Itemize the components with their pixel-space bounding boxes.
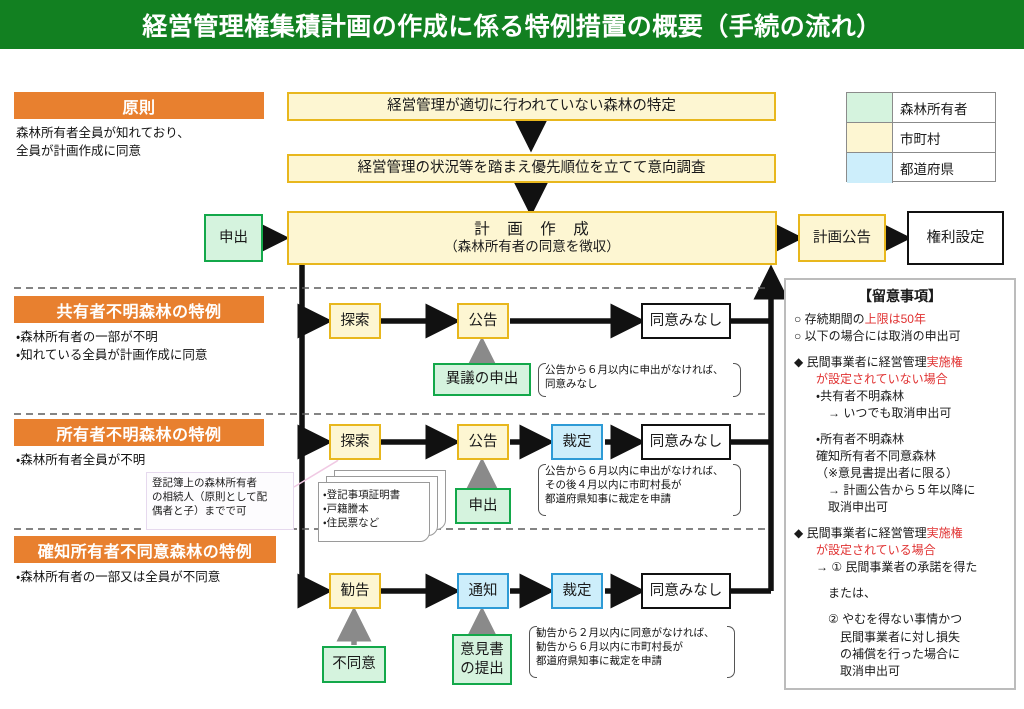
remarks-block2-head-line2: が設定されている場合: [794, 542, 1006, 559]
legend-row: 市町村: [847, 123, 995, 153]
section-header-label: 原則: [122, 94, 155, 118]
note-line: 同意みなし: [545, 377, 741, 391]
node-row2-public-notice[interactable]: 公告: [457, 424, 509, 460]
node-right-establishment[interactable]: 権利設定: [907, 211, 1004, 265]
remarks-block2-line: 民間事業者に対し損失: [794, 629, 1006, 646]
node-row3-opinion-submission[interactable]: 意見書 の提出: [452, 634, 512, 685]
node-label: 権利設定: [927, 229, 985, 247]
node-plan-announcement[interactable]: 計画公告: [798, 214, 886, 262]
note-bracket-right: [728, 626, 735, 678]
note-bracket-right: [734, 363, 741, 397]
node-row2-search[interactable]: 探索: [329, 424, 381, 460]
node-label: 探索: [341, 433, 370, 451]
section-body-kakuchi-fudoui: ・森林所有者の一部又は全員が不同意: [16, 568, 286, 586]
node-row2-deemed-consent[interactable]: 同意みなし: [641, 424, 731, 460]
spacer: [794, 345, 1006, 354]
node-row3-deemed-consent[interactable]: 同意みなし: [641, 573, 731, 609]
remarks-bullet-duration: ○ 存続期間の上限は50年: [794, 311, 1006, 328]
document-stack: ・登記事項証明書 ・戸籍謄本 ・住民票など: [318, 470, 446, 542]
section-header-label: 確知所有者不同意森林の特例: [38, 538, 253, 562]
legend-row: 都道府県: [847, 153, 995, 183]
node-moushide-main[interactable]: 申出: [204, 214, 263, 262]
callout-line: 偶者と子）までで可: [152, 505, 289, 519]
node-label: 計画公告: [813, 229, 871, 247]
remarks-text: ○ 存続期間の: [794, 312, 865, 326]
remarks-panel: 【留意事項】 ○ 存続期間の上限は50年 ○ 以下の場合には取消の申出可 ◆ 民…: [784, 278, 1016, 690]
node-row1-objection[interactable]: 異議の申出: [433, 363, 531, 396]
note-line: 都道府県知事に裁定を申請: [536, 654, 735, 668]
node-label: 不同意: [332, 655, 376, 673]
spacer: [794, 602, 1006, 611]
node-row1-search[interactable]: 探索: [329, 303, 381, 339]
node-label: 公告: [469, 312, 498, 330]
section-header-label: 共有者不明森林の特例: [56, 298, 221, 322]
section-body-line: ・森林所有者の一部が不明: [16, 328, 278, 346]
node-label-line1: 意見書: [460, 641, 504, 659]
section-body-shoyuusha-fumei: ・森林所有者全員が不明: [16, 451, 278, 469]
remarks-text: ◆ 民間事業者に経営管理: [794, 355, 927, 369]
note-line: 公告から６月以内に申出がなければ、: [545, 464, 741, 478]
section-body-line: ・森林所有者全員が不明: [16, 451, 278, 469]
section-body-kyouyuusha-fumei: ・森林所有者の一部が不明 ・知れている全員が計画作成に同意: [16, 328, 278, 364]
callout-line: の相続人（原則として配: [152, 491, 289, 505]
node-label: 通知: [469, 582, 498, 600]
node-row3-ruling[interactable]: 裁定: [551, 573, 603, 609]
legend: 森林所有者 市町村 都道府県: [846, 92, 996, 182]
note-line: 公告から６月以内に申出がなければ、: [545, 363, 741, 377]
legend-label-prefecture: 都道府県: [893, 153, 995, 183]
node-intention-survey[interactable]: 経営管理の状況等を踏まえ優先順位を立てて意向調査: [287, 154, 776, 183]
remarks-block2-line: → ① 民間事業者の承諾を得た: [794, 559, 1006, 576]
remarks-title: 【留意事項】: [794, 286, 1006, 306]
note-line: 勧告から６月以内に市町村長が: [536, 640, 735, 654]
section-body-line: ・知れている全員が計画作成に同意: [16, 346, 278, 364]
section-header-label: 所有者不明森林の特例: [56, 421, 221, 445]
node-row2-ruling[interactable]: 裁定: [551, 424, 603, 460]
node-row3-disagreement[interactable]: 不同意: [322, 646, 386, 683]
node-label: 裁定: [563, 433, 592, 451]
legend-label-municipality: 市町村: [893, 123, 995, 152]
note-line: その後４月以内に市町村長が: [545, 478, 741, 492]
node-plan-creation[interactable]: 計 画 作 成 （森林所有者の同意を徴収）: [287, 211, 777, 265]
node-label: 同意みなし: [650, 312, 723, 330]
node-label-sub: （森林所有者の同意を徴収）: [444, 239, 620, 256]
section-body-line: 全員が計画作成に同意: [16, 142, 271, 160]
title-banner: 経営管理権集積計画の作成に係る特例措置の概要（手続の流れ）: [0, 0, 1024, 49]
remarks-bullet-cancel: ○ 以下の場合には取消の申出可: [794, 328, 1006, 345]
node-label: 申出: [219, 229, 248, 247]
spacer: [794, 516, 1006, 525]
remarks-block1-line: → 計画公告から５年以降に: [794, 482, 1006, 499]
section-header-shoyuusha-fumei: 所有者不明森林の特例: [14, 419, 264, 446]
node-row3-notification[interactable]: 通知: [457, 573, 509, 609]
document-text: ・登記事項証明書 ・戸籍謄本 ・住民票など: [323, 489, 400, 531]
remarks-block2-line: または、: [794, 585, 1006, 602]
note-line: 都道府県知事に裁定を申請: [545, 492, 741, 506]
section-body-gensoku: 森林所有者全員が知れており、 全員が計画作成に同意: [16, 124, 271, 160]
document-line: ・戸籍謄本: [323, 503, 400, 517]
remarks-block1-line: （※意見書提出者に限る）: [794, 465, 1006, 482]
section-body-line: ・森林所有者の一部又は全員が不同意: [16, 568, 286, 586]
note-row2: 公告から６月以内に申出がなければ、 その後４月以内に市町村長が 都道府県知事に裁…: [536, 464, 741, 516]
callout-heir-scope: 登記簿上の森林所有者 の相続人（原則として配 偶者と子）までで可: [146, 472, 294, 530]
remarks-highlight-duration: 上限は50年: [865, 312, 926, 326]
remarks-block1-line: ・所有者不明森林: [794, 431, 1006, 448]
note-line: 勧告から２月以内に同意がなければ、: [536, 626, 735, 640]
page-title: 経営管理権集積計画の作成に係る特例措置の概要（手続の流れ）: [142, 7, 882, 43]
document-line: ・住民票など: [323, 517, 400, 531]
remarks-block1-head-line2: が設定されていない場合: [794, 371, 1006, 388]
node-label: 経営管理が適切に行われていない森林の特定: [387, 97, 676, 115]
section-header-gensoku: 原則: [14, 92, 264, 119]
remarks-block2-line: ② やむを得ない事情かつ: [794, 611, 1006, 628]
node-row2-moushide[interactable]: 申出: [455, 488, 511, 524]
node-label: 探索: [341, 312, 370, 330]
node-row1-public-notice[interactable]: 公告: [457, 303, 509, 339]
remarks-block1-line: 取消申出可: [794, 499, 1006, 516]
node-label: 公告: [469, 433, 498, 451]
remarks-block1-line: → いつでも取消申出可: [794, 405, 1006, 422]
note-row1: 公告から６月以内に申出がなければ、 同意みなし: [536, 363, 741, 397]
node-label: 勧告: [341, 582, 370, 600]
remarks-block2-head-line1: ◆ 民間事業者に経営管理実施権: [794, 525, 1006, 542]
section-header-kyouyuusha-fumei: 共有者不明森林の特例: [14, 296, 264, 323]
legend-label-forest-owner: 森林所有者: [893, 93, 995, 122]
remarks-block2-line: 取消申出可: [794, 663, 1006, 680]
section-header-kakuchi-fudoui: 確知所有者不同意森林の特例: [14, 536, 276, 563]
remarks-text: ◆ 民間事業者に経営管理: [794, 526, 927, 540]
node-label-title: 計 画 作 成: [444, 220, 620, 239]
legend-swatch-municipality: [847, 123, 893, 152]
document-page-front: ・登記事項証明書 ・戸籍謄本 ・住民票など: [318, 482, 430, 542]
remarks-highlight-jisshiken: 実施権: [927, 355, 963, 369]
callout-line: 登記簿上の森林所有者: [152, 477, 289, 491]
node-label: 異議の申出: [446, 370, 519, 388]
legend-swatch-forest-owner: [847, 93, 893, 122]
node-identify-forest[interactable]: 経営管理が適切に行われていない森林の特定: [287, 92, 776, 121]
remarks-highlight-jisshiken: 実施権: [927, 526, 963, 540]
node-label-line2: の提出: [460, 660, 504, 678]
note-row3: 勧告から２月以内に同意がなければ、 勧告から６月以内に市町村長が 都道府県知事に…: [527, 626, 735, 678]
document-line: ・登記事項証明書: [323, 489, 400, 503]
legend-row: 森林所有者: [847, 93, 995, 123]
legend-swatch-prefecture: [847, 153, 893, 183]
node-label: 同意みなし: [650, 433, 723, 451]
node-label: 申出: [469, 497, 498, 515]
remarks-block1-head-line1: ◆ 民間事業者に経営管理実施権: [794, 354, 1006, 371]
remarks-block1-line: 確知所有者不同意森林: [794, 448, 1006, 465]
remarks-block1-line: ・共有者不明森林: [794, 388, 1006, 405]
section-body-line: 森林所有者全員が知れており、: [16, 124, 271, 142]
spacer: [794, 576, 1006, 585]
node-label: 裁定: [563, 582, 592, 600]
spacer: [794, 422, 1006, 431]
node-row1-deemed-consent[interactable]: 同意みなし: [641, 303, 731, 339]
node-label: 経営管理の状況等を踏まえ優先順位を立てて意向調査: [358, 159, 706, 177]
note-bracket-right: [734, 464, 741, 516]
node-label: 同意みなし: [650, 582, 723, 600]
node-row3-recommendation[interactable]: 勧告: [329, 573, 381, 609]
remarks-block2-line: の補償を行った場合に: [794, 646, 1006, 663]
